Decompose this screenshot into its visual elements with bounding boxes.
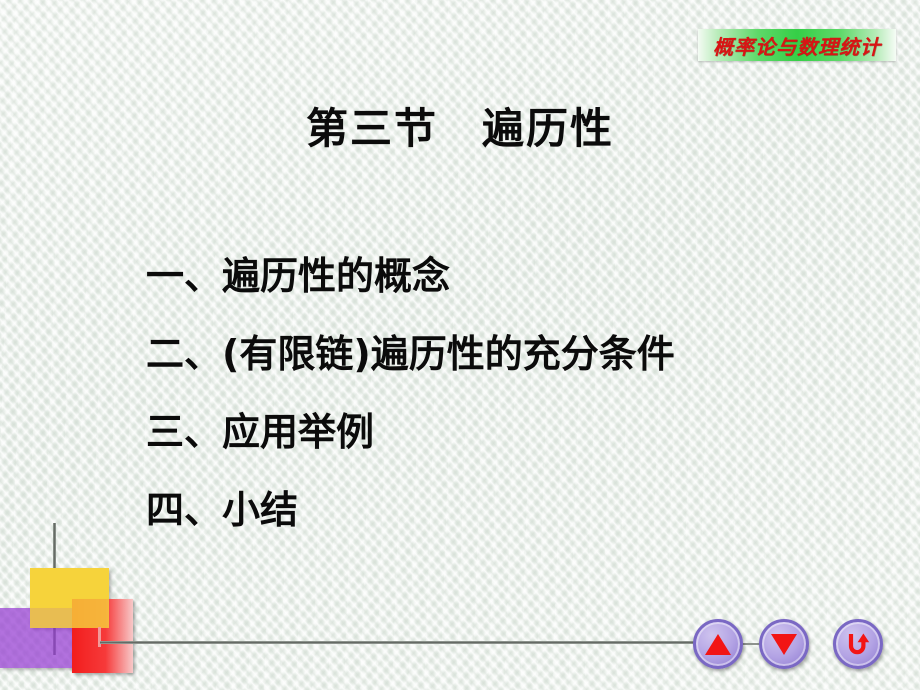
decorative-squares-group [0, 505, 170, 690]
triangle-down-icon [771, 634, 797, 655]
slide-canvas: 概率论与数理统计 第三节 遍历性 一、遍历性的概念 二、(有限链)遍历性的充分条… [0, 0, 920, 690]
page-title: 第三节 遍历性 [0, 95, 920, 156]
u-turn-arrow-icon [845, 631, 871, 657]
list-item[interactable]: 二、(有限链)遍历性的充分条件 [146, 315, 876, 393]
list-item[interactable]: 一、遍历性的概念 [146, 237, 876, 315]
triangle-up-icon [705, 634, 731, 655]
previous-slide-button[interactable] [693, 619, 743, 669]
banner-label: 概率论与数理统计 [698, 29, 896, 61]
nav-connector-line [741, 643, 761, 645]
navigation-buttons [693, 617, 893, 673]
yellow-square-overlay-icon [30, 568, 109, 628]
next-slide-button[interactable] [759, 619, 809, 669]
outline-list: 一、遍历性的概念 二、(有限链)遍历性的充分条件 三、应用举例 四、小结 [146, 237, 876, 549]
rule-left-cap [98, 627, 101, 647]
list-item[interactable]: 四、小结 [146, 471, 876, 549]
list-item[interactable]: 三、应用举例 [146, 393, 876, 471]
course-title-banner: 概率论与数理统计 [698, 29, 896, 61]
return-home-button[interactable] [833, 619, 883, 669]
horizontal-rule [100, 641, 700, 644]
